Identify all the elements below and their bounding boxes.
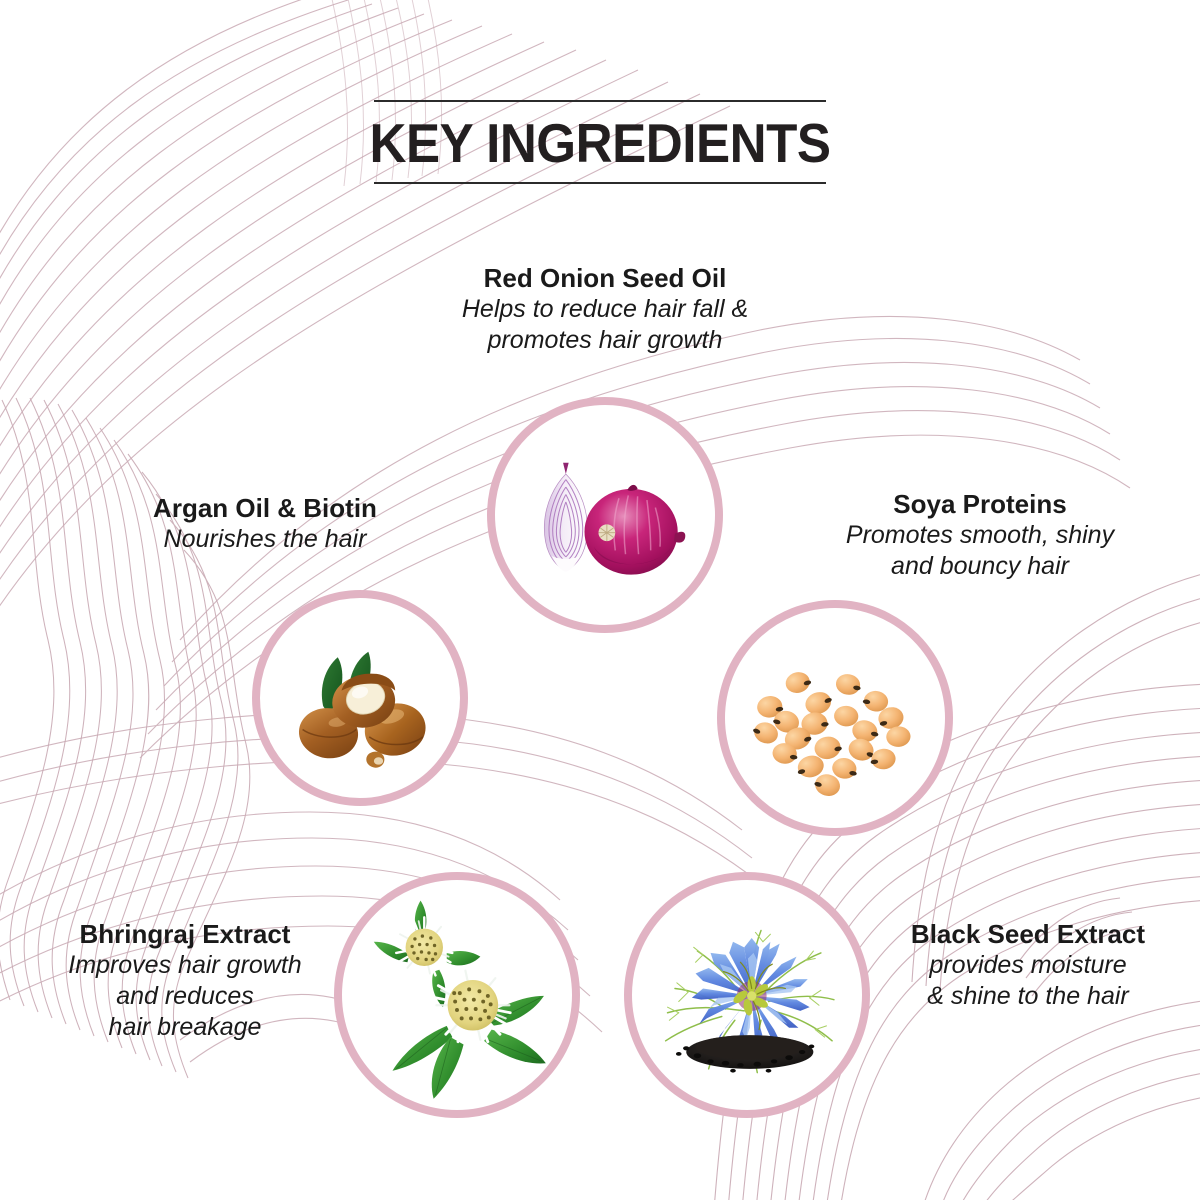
ingredient-name: Black Seed Extract xyxy=(878,918,1178,950)
infographic-canvas: KEY INGREDIENTS xyxy=(0,0,1200,1200)
ingredient-description-line: and reduces xyxy=(35,981,335,1012)
ingredient-name: Bhringraj Extract xyxy=(35,918,335,950)
ingredient-description-line: hair breakage xyxy=(35,1012,335,1043)
ingredient-description-line: provides moisture xyxy=(878,950,1178,981)
ingredient-circle-argan-oil-biotin[interactable] xyxy=(252,590,468,806)
ingredient-description-line: & shine to the hair xyxy=(878,981,1178,1012)
label-black-seed-extract: Black Seed Extract provides moisture & s… xyxy=(878,918,1178,1012)
title-rule-bottom xyxy=(374,182,826,184)
label-bhringraj-extract: Bhringraj Extract Improves hair growth a… xyxy=(35,918,335,1043)
ingredient-circle-black-seed-extract[interactable] xyxy=(624,872,870,1118)
ingredient-description-line: Improves hair growth xyxy=(35,950,335,981)
soya-beans-icon xyxy=(725,608,945,828)
black-seed-flower-icon xyxy=(632,880,862,1110)
header: KEY INGREDIENTS xyxy=(0,100,1200,184)
ingredient-circle-red-onion-seed-oil[interactable] xyxy=(487,397,723,633)
ingredient-description-line: Promotes smooth, shiny xyxy=(820,520,1140,551)
ingredient-circle-bhringraj-extract[interactable] xyxy=(334,872,580,1118)
label-soya-proteins: Soya Proteins Promotes smooth, shiny and… xyxy=(820,488,1140,582)
ingredient-name: Red Onion Seed Oil xyxy=(405,262,805,294)
red-onion-icon xyxy=(495,405,715,625)
ingredient-description-line: Nourishes the hair xyxy=(100,524,430,555)
argan-nut-icon xyxy=(260,598,460,798)
label-red-onion-seed-oil: Red Onion Seed Oil Helps to reduce hair … xyxy=(405,262,805,356)
ingredient-circle-soya-proteins[interactable] xyxy=(717,600,953,836)
title-rule-top xyxy=(374,100,826,102)
bhringraj-flower-icon xyxy=(342,880,572,1110)
label-argan-oil-biotin: Argan Oil & Biotin Nourishes the hair xyxy=(100,492,430,555)
ingredient-description-line: Helps to reduce hair fall & xyxy=(405,294,805,325)
ingredient-description-line: and bouncy hair xyxy=(820,551,1140,582)
ingredient-name: Argan Oil & Biotin xyxy=(100,492,430,524)
page-title: KEY INGREDIENTS xyxy=(42,112,1158,174)
ingredient-name: Soya Proteins xyxy=(820,488,1140,520)
ingredient-description-line: promotes hair growth xyxy=(405,325,805,356)
